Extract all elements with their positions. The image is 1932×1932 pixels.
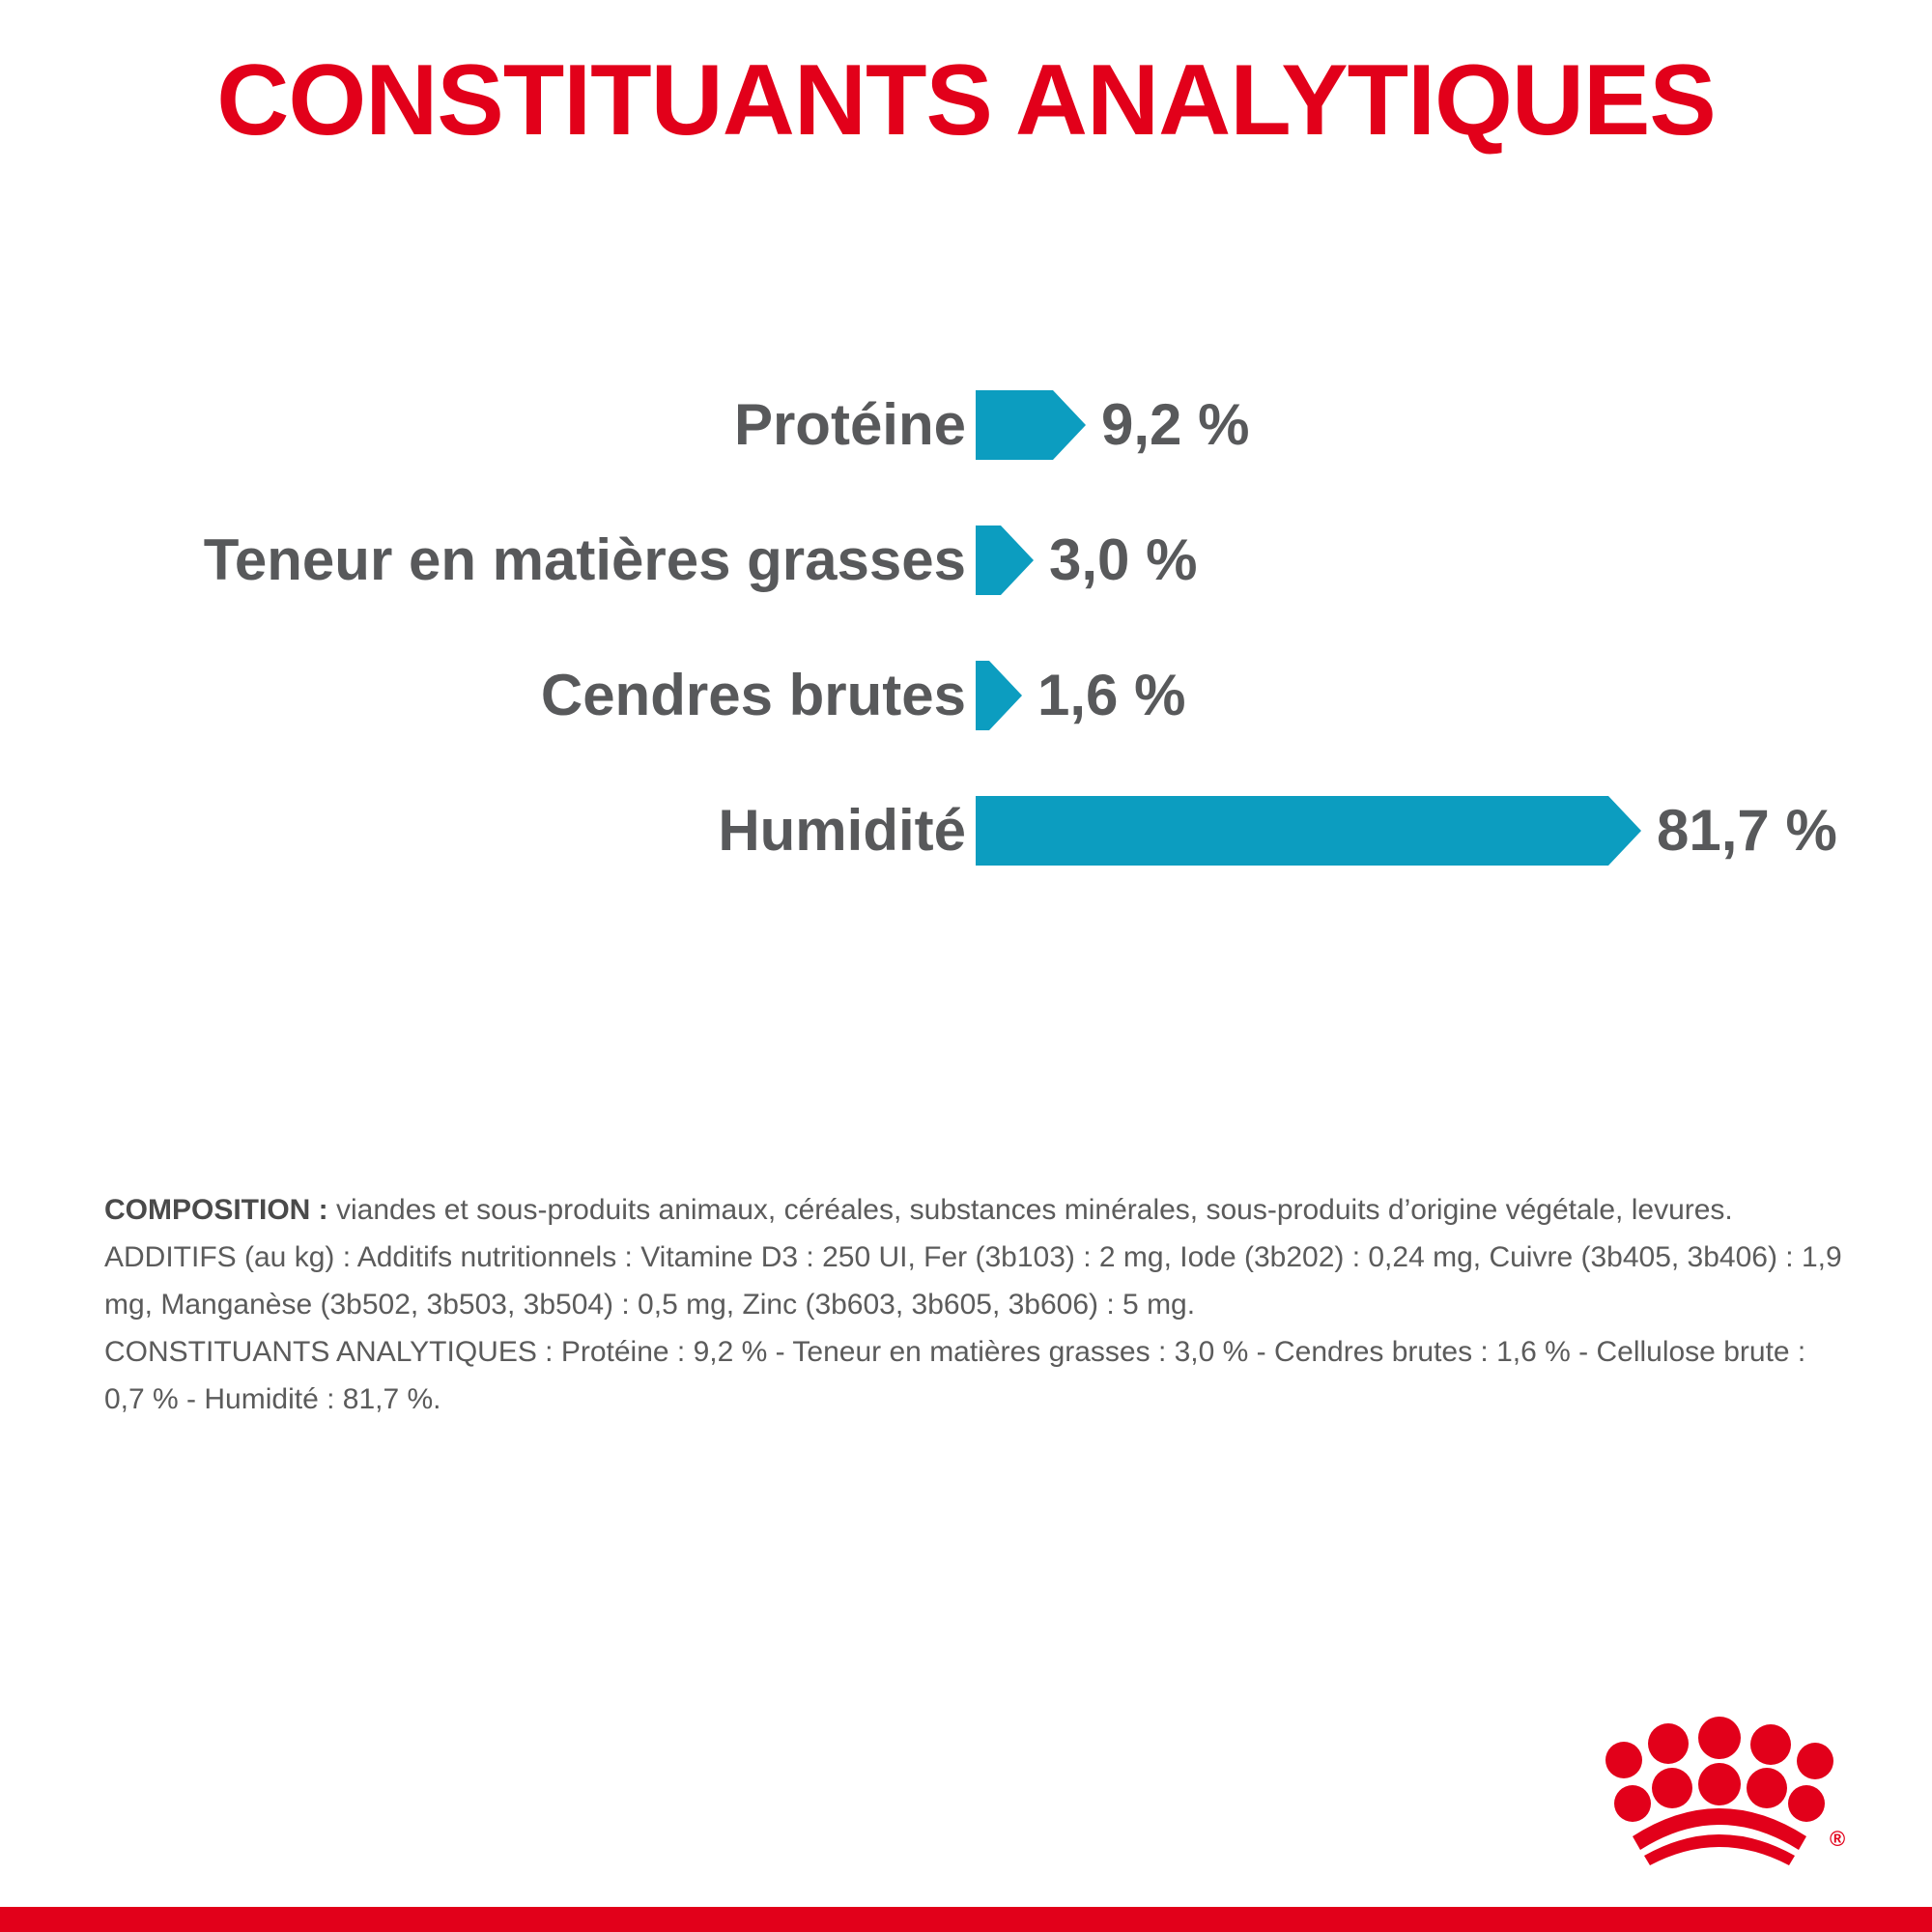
page-title: CONSTITUANTS ANALYTIQUES (0, 46, 1932, 155)
nutrient-label-humidite: Humidité (718, 800, 966, 862)
analytical-constituents-line: CONSTITUANTS ANALYTIQUES : Protéine : 9,… (104, 1328, 1843, 1423)
royal-canin-crown-logo: ® (1594, 1715, 1845, 1869)
nutrient-label-cendres-brutes: Cendres brutes (541, 665, 966, 726)
bottom-accent-bar (0, 1907, 1932, 1932)
bar-fill (976, 796, 1608, 866)
registered-trademark-mark: ® (1830, 1827, 1845, 1851)
composition-ingredients: viandes et sous-produits animaux, céréal… (328, 1194, 1733, 1226)
nutrient-label-matieres-grasses: Teneur en matières grasses (204, 529, 966, 591)
nutrient-bar-matieres-grasses (976, 526, 1001, 595)
nutrient-value-matieres-grasses: 3,0 % (1049, 529, 1197, 591)
nutrient-bar-humidite (976, 796, 1608, 866)
nutrient-bar-cendres-brutes (976, 661, 989, 730)
nutrient-row: Humidité 81,7 % (0, 763, 1932, 898)
nutrient-row: Protéine 9,2 % (0, 357, 1932, 493)
composition-label: COMPOSITION : (104, 1194, 328, 1226)
additives-line: ADDITIFS (au kg) : Additifs nutritionnel… (104, 1234, 1843, 1328)
composition-text-block: COMPOSITION : viandes et sous-produits a… (104, 1186, 1843, 1423)
bar-fill (976, 390, 1053, 460)
nutrient-value-humidite: 81,7 % (1657, 800, 1837, 862)
nutrient-row: Teneur en matières grasses 3,0 % (0, 493, 1932, 628)
analytical-constituents-page: CONSTITUANTS ANALYTIQUES Protéine 9,2 % … (0, 0, 1932, 1932)
nutrient-row: Cendres brutes 1,6 % (0, 628, 1932, 763)
crown-logo-icon: ® (1594, 1715, 1845, 1869)
bar-fill (976, 526, 1001, 595)
bar-fill (976, 661, 989, 730)
nutrient-bar-proteine (976, 390, 1053, 460)
nutrient-value-cendres-brutes: 1,6 % (1037, 665, 1185, 726)
composition-line: COMPOSITION : viandes et sous-produits a… (104, 1186, 1843, 1234)
nutrient-label-proteine: Protéine (734, 394, 966, 456)
nutrient-value-proteine: 9,2 % (1101, 394, 1249, 456)
analytical-constituents-chart: Protéine 9,2 % Teneur en matières grasse… (0, 357, 1932, 898)
